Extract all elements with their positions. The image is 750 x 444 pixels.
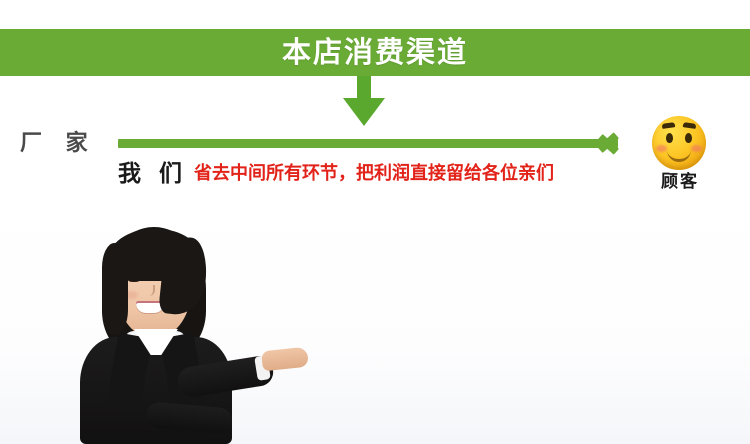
smiley-brow-right bbox=[683, 122, 697, 129]
customer-group: 顾客 bbox=[640, 116, 720, 204]
businesswoman-photo bbox=[50, 219, 265, 444]
title-banner: 本店消费渠道 bbox=[0, 29, 750, 76]
photo-composition: 联 系 我 们 bbox=[0, 207, 750, 444]
slogan-row: 我 们 省去中间所有环节，把利润直接留给各位亲们 bbox=[118, 160, 618, 188]
flow-arrow-line bbox=[118, 139, 618, 148]
smiley-eye-right bbox=[685, 133, 692, 143]
smiley-brow-left bbox=[662, 122, 676, 129]
smiley-cheek-right bbox=[691, 145, 702, 152]
promo-banner-image: 本店消费渠道 厂 家 我 们 省去中间所有环节，把利润直接留给各位亲们 顾客 bbox=[0, 0, 750, 444]
hair-side-left bbox=[102, 243, 128, 335]
slogan-text: 省去中间所有环节，把利润直接留给各位亲们 bbox=[194, 165, 554, 183]
smiley-eye-left bbox=[666, 133, 673, 143]
arrow-down-head bbox=[343, 98, 385, 126]
open-hand bbox=[261, 347, 309, 372]
source-label: 厂 家 bbox=[20, 133, 96, 155]
arrow-down-icon bbox=[340, 76, 388, 126]
arrow-right-icon bbox=[600, 131, 626, 157]
customer-label: 顾客 bbox=[640, 174, 720, 191]
smiley-cheek-left bbox=[656, 145, 667, 152]
smiley-mouth bbox=[667, 149, 691, 162]
page-title: 本店消费渠道 bbox=[0, 29, 750, 76]
smiley-face-icon bbox=[652, 116, 706, 170]
we-label: 我 们 bbox=[118, 163, 187, 186]
